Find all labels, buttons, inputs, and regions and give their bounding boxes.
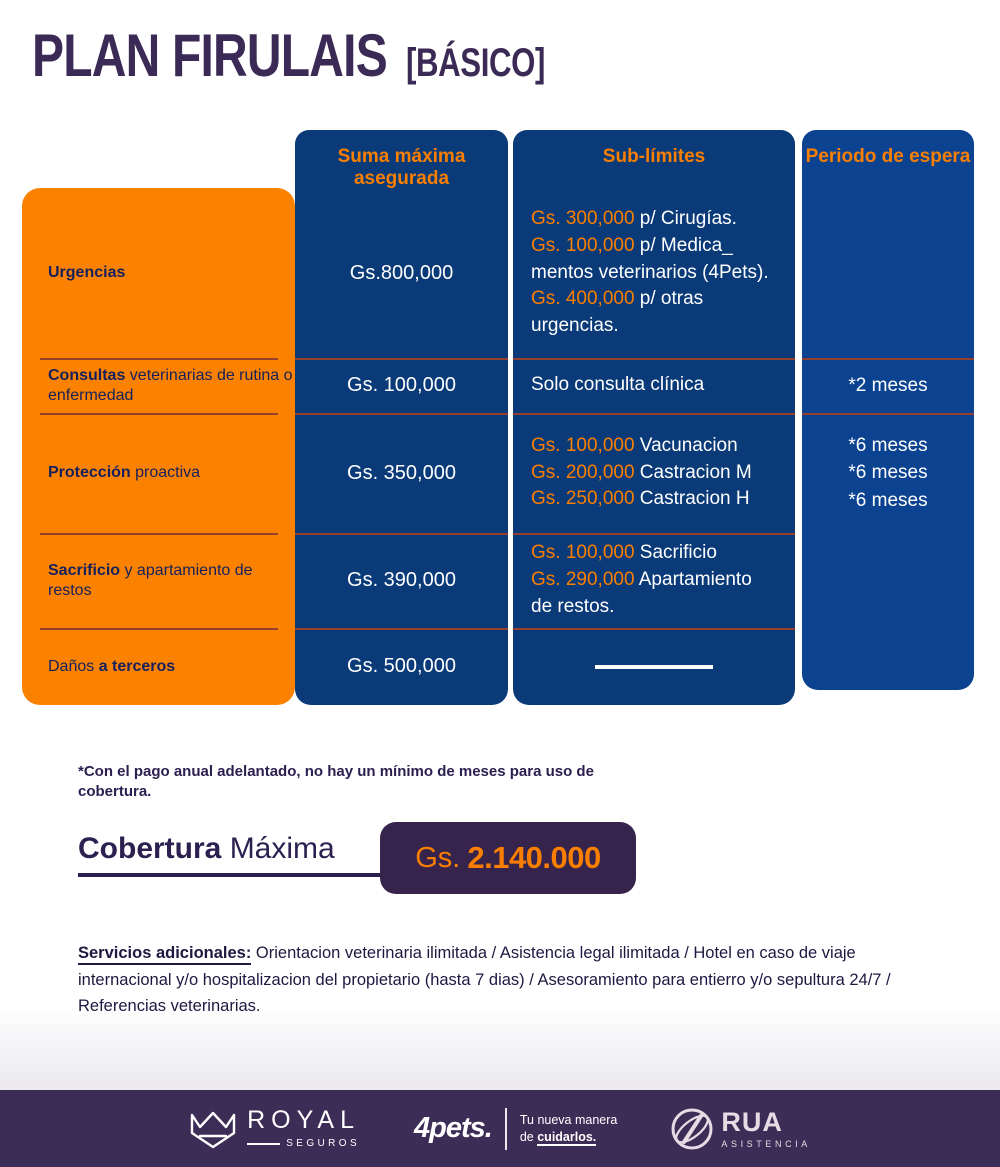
footnote-text: *Con el pago anual adelantado, no hay un…: [78, 762, 638, 802]
crown-icon: [189, 1109, 237, 1149]
coverage-amount-badge: Gs. 2.140.000: [380, 822, 636, 894]
suma-cell: Gs. 100,000: [295, 358, 508, 413]
concept-danos-terceros: Daños a terceros: [22, 657, 175, 677]
suma-proteccion: Gs. 350,000: [347, 462, 456, 485]
rua-asistencia-logo: RUA ASISTENCIA: [671, 1108, 811, 1150]
row-divider: [513, 358, 795, 360]
royal-wordmark: ROYAL SEGUROS: [247, 1108, 360, 1149]
title-main: PLAN FIRULAIS: [32, 26, 387, 86]
coverage-section: Cobertura Máxima Gs. 2.140.000: [78, 828, 678, 894]
sublimites-cell: Gs. 100,000 Sacrificio Gs. 290,000 Apart…: [513, 533, 795, 628]
rua-sub: ASISTENCIA: [721, 1139, 811, 1149]
sublimites-sacrificio: Gs. 100,000 Sacrificio Gs. 290,000 Apart…: [513, 540, 762, 621]
sublimites-cell: [513, 628, 795, 705]
column-header-periodo-espera: Periodo de espera: [802, 130, 974, 198]
coverage-amount: 2.140.000: [467, 840, 600, 876]
title-bracket: [BÁSICO]: [406, 43, 545, 83]
suma-sacrificio: Gs. 390,000: [347, 569, 456, 592]
row-divider: [802, 358, 974, 360]
suma-cell: Gs. 390,000: [295, 533, 508, 628]
services-label: Servicios adicionales:: [78, 944, 251, 965]
sublimites-proteccion: Gs. 100,000 Vacunacion Gs. 200,000 Castr…: [513, 433, 762, 514]
row-divider: [40, 533, 278, 535]
fourpets-tagline: Tu nueva manera de cuidarlos.: [520, 1112, 618, 1145]
footer-logos-bar: ROYAL SEGUROS 4pets. Tu nueva manera de …: [0, 1090, 1000, 1167]
royal-name: ROYAL: [247, 1108, 360, 1133]
logo-separator: [505, 1108, 507, 1150]
concept-danos-bold: a terceros: [99, 658, 176, 675]
royal-sub-row: SEGUROS: [247, 1138, 360, 1149]
fourpets-logo: 4pets. Tu nueva manera de cuidarlos.: [414, 1108, 617, 1150]
table-row: Urgencias: [22, 188, 295, 358]
row-divider: [295, 533, 508, 535]
row-divider: [295, 358, 508, 360]
suma-cell: Gs.800,000: [295, 188, 508, 358]
table-row: Daños a terceros: [22, 628, 295, 705]
row-divider: [513, 413, 795, 415]
concept-proteccion: Protección proactiva: [22, 463, 200, 483]
table-row: Consultas veterinarias de rutina o enfer…: [22, 358, 295, 413]
royal-seguros-logo: ROYAL SEGUROS: [189, 1108, 360, 1149]
espera-proteccion: *6 meses *6 meses *6 meses: [802, 432, 974, 515]
row-divider: [40, 358, 278, 360]
empty-dash-icon: [595, 665, 713, 669]
coverage-underline: [78, 873, 400, 877]
row-divider: [513, 533, 795, 535]
tagline-line2-bold: cuidarlos.: [537, 1130, 596, 1146]
fourpets-wordmark: 4pets.: [414, 1112, 492, 1145]
coverage-label: Cobertura Máxima: [78, 832, 335, 866]
sublimites-urgencias: Gs. 300,000 p/ Cirugías. Gs. 100,000 p/ …: [513, 206, 779, 341]
table-row: Protección proactiva: [22, 413, 295, 533]
row-divider: [802, 413, 974, 415]
coverage-currency: Gs.: [415, 842, 460, 875]
royal-rule: [247, 1143, 280, 1145]
rua-name: RUA: [721, 1109, 783, 1136]
tagline-line1: Tu nueva manera: [520, 1113, 618, 1127]
tagline-line2-pre: de: [520, 1130, 537, 1144]
row-divider: [40, 628, 278, 630]
suma-cell: Gs. 350,000: [295, 413, 508, 533]
sublimites-cell: Solo consulta clínica: [513, 358, 795, 413]
suma-consultas: Gs. 100,000: [347, 374, 456, 397]
rua-wordmark: RUA ASISTENCIA: [721, 1109, 811, 1149]
sublimites-cell: Gs. 300,000 p/ Cirugías. Gs. 100,000 p/ …: [513, 188, 795, 358]
suma-cell: Gs. 500,000: [295, 628, 508, 705]
sublimites-consultas: Solo consulta clínica: [513, 372, 714, 399]
row-divider: [295, 628, 508, 630]
additional-services: Servicios adicionales: Orientacion veter…: [78, 940, 940, 1020]
globe-icon: [671, 1108, 713, 1150]
concept-sacrificio: Sacrificio y apartamiento de restos: [22, 561, 295, 600]
concept-consultas: Consultas veterinarias de rutina o enfer…: [22, 366, 295, 405]
suma-danos: Gs. 500,000: [347, 655, 456, 678]
coverage-table: Suma máxima asegurada Sub-límites Period…: [0, 130, 1000, 705]
espera-cell: *6 meses *6 meses *6 meses: [802, 413, 974, 533]
concept-urgencias: Urgencias: [22, 263, 125, 283]
espera-consultas: *2 meses: [802, 372, 974, 400]
espera-cell: *2 meses: [802, 358, 974, 413]
table-row: Sacrificio y apartamiento de restos: [22, 533, 295, 628]
page-title: PLAN FIRULAIS [BÁSICO]: [32, 26, 584, 86]
sublimites-cell: Gs. 100,000 Vacunacion Gs. 200,000 Castr…: [513, 413, 795, 533]
concept-danos-prefix: Daños: [48, 658, 99, 675]
row-divider: [40, 413, 278, 415]
row-divider: [513, 628, 795, 630]
royal-sub: SEGUROS: [286, 1138, 360, 1149]
row-divider: [295, 413, 508, 415]
suma-urgencias: Gs.800,000: [350, 262, 453, 285]
